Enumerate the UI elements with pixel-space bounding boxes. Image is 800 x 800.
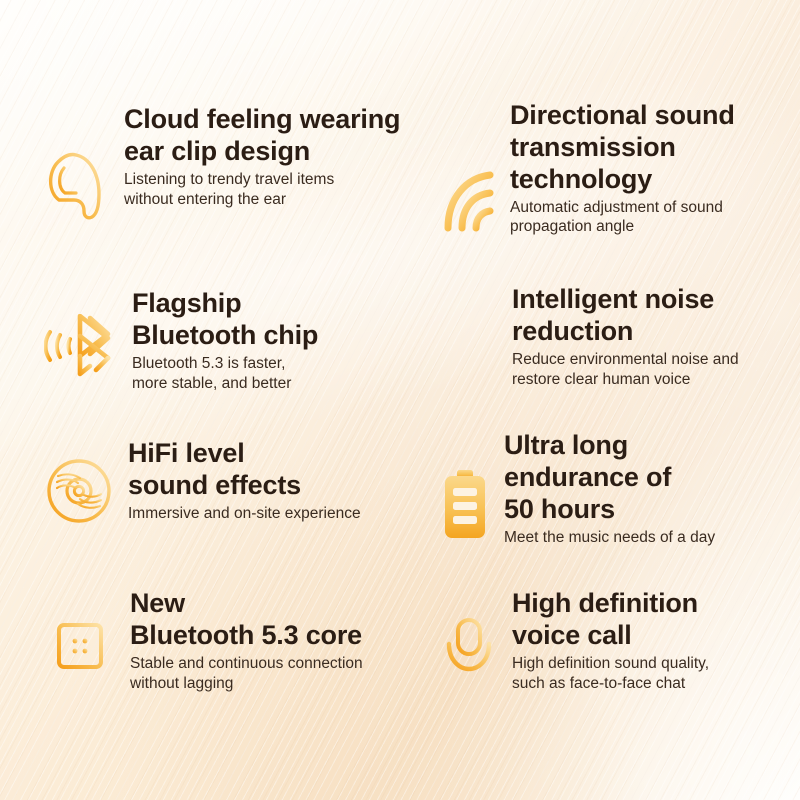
signal-waves-icon [440, 162, 496, 234]
feature-item: Directional sound transmission technolog… [440, 100, 796, 237]
feature-subtitle: Bluetooth 5.3 is faster, more stable, an… [132, 354, 318, 394]
infographic-canvas: Cloud feeling wearing ear clip design Li… [0, 0, 800, 800]
bluetooth-signal-icon [44, 314, 118, 378]
feature-text: Flagship Bluetooth chip Bluetooth 5.3 is… [132, 288, 318, 393]
cpu-chip-icon [44, 610, 116, 682]
feature-text: HiFi level sound effects Immersive and o… [128, 438, 361, 524]
feature-title: High definition voice call [512, 588, 709, 652]
feature-subtitle: Immersive and on-site experience [128, 504, 361, 524]
ear-clip-icon [44, 148, 110, 222]
sound-bars-icon [440, 314, 498, 370]
microphone-icon [440, 614, 498, 686]
feature-subtitle: High definition sound quality, such as f… [512, 654, 709, 694]
feature-text: High definition voice call High definiti… [512, 588, 709, 693]
feature-subtitle: Reduce environmental noise and restore c… [512, 350, 739, 390]
feature-subtitle: Listening to trendy travel items without… [124, 170, 400, 210]
feature-text: Cloud feeling wearing ear clip design Li… [124, 104, 400, 209]
feature-item: Cloud feeling wearing ear clip design Li… [44, 104, 448, 222]
feature-item: Ultra long endurance of 50 hours Meet th… [440, 430, 796, 547]
feature-text: Ultra long endurance of 50 hours Meet th… [504, 430, 715, 547]
feature-title: Flagship Bluetooth chip [132, 288, 318, 352]
battery-icon [440, 468, 490, 542]
feature-subtitle: Automatic adjustment of sound propagatio… [510, 198, 735, 238]
feature-title: Intelligent noise reduction [512, 284, 739, 348]
feature-item: Intelligent noise reduction Reduce envir… [440, 284, 796, 389]
feature-subtitle: Meet the music needs of a day [504, 528, 715, 548]
feature-text: Intelligent noise reduction Reduce envir… [512, 284, 739, 389]
feature-text: Directional sound transmission technolog… [510, 100, 735, 237]
feature-item: High definition voice call High definiti… [440, 588, 796, 693]
feature-subtitle: Stable and continuous connection without… [130, 654, 363, 694]
feature-title: HiFi level sound effects [128, 438, 361, 502]
feature-item: New Bluetooth 5.3 core Stable and contin… [44, 588, 448, 693]
vinyl-record-icon [44, 456, 114, 526]
feature-item: HiFi level sound effects Immersive and o… [44, 438, 448, 526]
feature-item: Flagship Bluetooth chip Bluetooth 5.3 is… [44, 288, 448, 393]
feature-title: New Bluetooth 5.3 core [130, 588, 363, 652]
feature-text: New Bluetooth 5.3 core Stable and contin… [130, 588, 363, 693]
feature-title: Ultra long endurance of 50 hours [504, 430, 715, 526]
feature-title: Cloud feeling wearing ear clip design [124, 104, 400, 168]
feature-title: Directional sound transmission technolog… [510, 100, 735, 196]
